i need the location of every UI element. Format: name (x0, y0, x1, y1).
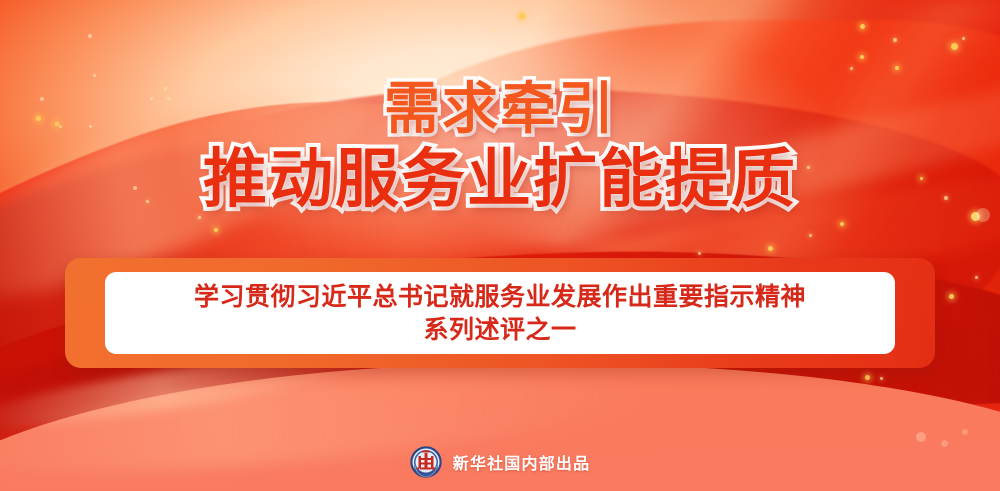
poster-canvas: 需求牵引 推动服务业扩能提质 学习贯彻习近平总书记就服务业发展作出重要指示精神 … (0, 0, 1000, 491)
subtitle-box: 学习贯彻习近平总书记就服务业发展作出重要指示精神 系列述评之一 (105, 272, 895, 354)
subtitle-line-1: 学习贯彻习近平总书记就服务业发展作出重要指示精神 (194, 280, 806, 313)
poster-headline: 需求牵引 推动服务业扩能提质 (0, 82, 1000, 212)
xinhua-news-agency-emblem-icon (410, 446, 442, 478)
gold-particles (0, 0, 1000, 491)
headline-line-2: 推动服务业扩能提质 (0, 148, 1000, 212)
silk-right-field (185, 0, 1000, 491)
poster-footer: 新华社国内部出品 (0, 446, 1000, 478)
subtitle-line-2: 系列述评之一 (423, 313, 576, 346)
footer-source-text: 新华社国内部出品 (453, 450, 591, 474)
headline-line-1: 需求牵引 (0, 82, 1000, 138)
subtitle-frame: 学习贯彻习近平总书记就服务业发展作出重要指示精神 系列述评之一 (65, 258, 935, 368)
